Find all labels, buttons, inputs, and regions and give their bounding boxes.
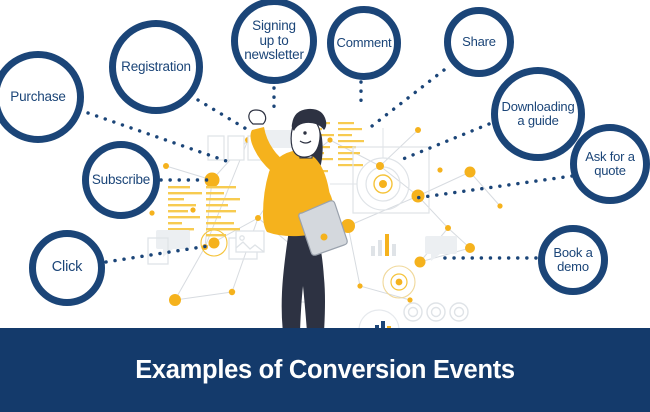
- bubble-label-purchase: Purchase: [10, 90, 65, 105]
- bubble-comment[interactable]: Comment: [327, 6, 401, 80]
- connector-ask-quote: [416, 176, 572, 198]
- connector-share: [372, 70, 444, 126]
- page-title: Examples of Conversion Events: [135, 356, 515, 385]
- bubble-click[interactable]: Click: [29, 230, 105, 306]
- code-block-left: [168, 186, 240, 236]
- gear-icons: [404, 303, 468, 321]
- bubble-ask-for-a-quote[interactable]: Ask for a quote: [570, 124, 650, 204]
- bubble-label-downloading: Downloading a guide: [502, 100, 575, 128]
- bubble-label-registration: Registration: [121, 60, 191, 75]
- bubble-label-subscribe: Subscribe: [92, 173, 150, 188]
- target-icon-small: [383, 266, 415, 298]
- bubble-label-comment: Comment: [337, 36, 392, 50]
- bubble-registration[interactable]: Registration: [109, 20, 203, 114]
- bar-chart-icon-mid: [371, 234, 396, 256]
- connector-downloading: [398, 124, 489, 161]
- connector-registration: [198, 100, 248, 130]
- chat-bubble-icon-right: [425, 236, 457, 261]
- title-banner: Examples of Conversion Events: [0, 328, 650, 412]
- bubble-signing-up-to-newsletter[interactable]: Signing up to newsletter: [231, 0, 317, 84]
- bubble-label-book-demo: Book a demo: [553, 246, 592, 274]
- bubble-label-share: Share: [462, 35, 496, 49]
- bubble-downloading-a-guide[interactable]: Downloading a guide: [491, 67, 585, 161]
- image-placeholder-icon: [229, 231, 264, 259]
- bubble-label-click: Click: [52, 260, 82, 276]
- bubble-share[interactable]: Share: [444, 7, 514, 77]
- bubble-book-a-demo[interactable]: Book a demo: [538, 225, 608, 295]
- bubble-label-signing-up: Signing up to newsletter: [244, 19, 304, 63]
- bubble-label-ask-quote: Ask for a quote: [585, 150, 635, 178]
- conversion-events-infographic: Purchase Registration Signing up to news…: [0, 0, 650, 412]
- bubble-subscribe[interactable]: Subscribe: [82, 141, 160, 219]
- person-illustration: [249, 109, 347, 349]
